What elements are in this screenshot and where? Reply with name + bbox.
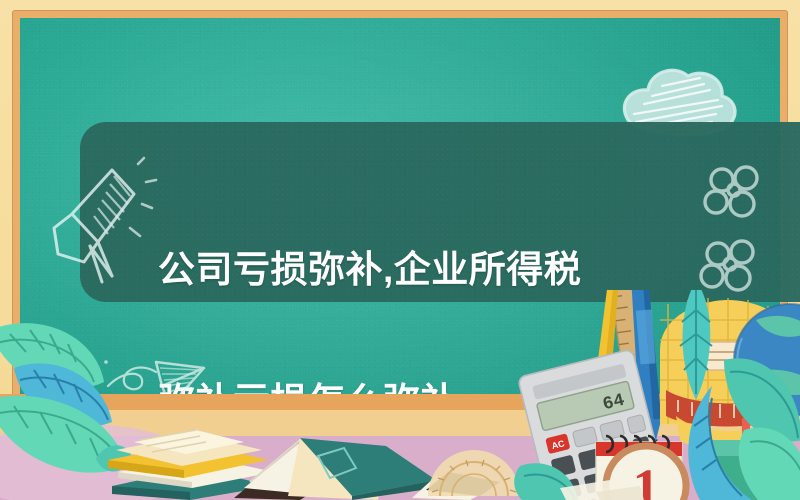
desk-illustration: 64 AC	[0, 290, 800, 500]
page-title-line-1: 公司亏损弥补,企业所得税	[158, 248, 758, 292]
cover-canvas: 公司亏损弥补,企业所得税 弥补亏损怎么弥补	[0, 0, 800, 500]
